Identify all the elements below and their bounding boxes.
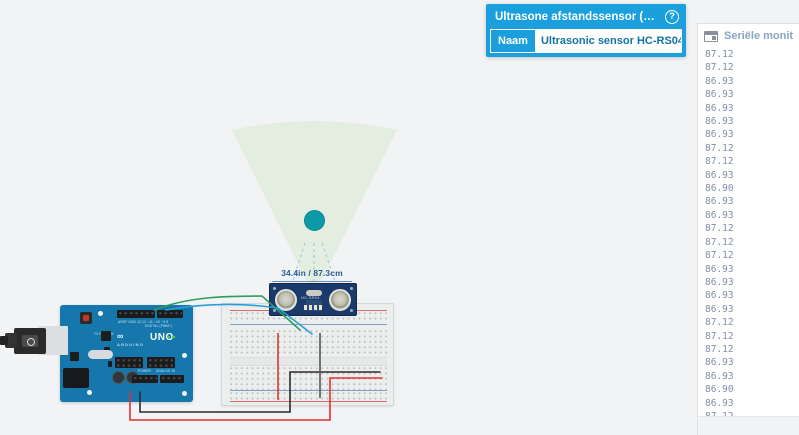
atmega-socket-right	[147, 357, 175, 368]
serial-monitor-line: 86.93	[705, 263, 799, 276]
serial-monitor-line: 87.12	[705, 249, 799, 262]
arduino-uno-label: UNO	[150, 332, 174, 343]
breadboard-holes-upper	[230, 330, 387, 357]
serial-monitor-line: 86.93	[705, 303, 799, 316]
atmega-socket-left	[115, 357, 143, 368]
usb-icon	[22, 335, 38, 347]
analog-header-label: ANALOG IN	[156, 369, 175, 373]
distance-readout-rule	[272, 281, 352, 282]
sensor-pin-echo[interactable]	[314, 305, 317, 310]
l-led	[172, 336, 175, 338]
microcontroller-ic	[88, 350, 113, 359]
serial-monitor-line: 87.12	[705, 343, 799, 356]
serial-monitor-line: 86.93	[705, 102, 799, 115]
tinkercad-simulator-screen: 34.4in / 87.3cm HC-SR04	[0, 0, 799, 435]
power-mosfet	[70, 352, 79, 361]
sensor-transmitter	[275, 289, 297, 311]
serial-monitor-line: 86.93	[705, 289, 799, 302]
breadboard-center-channel	[230, 357, 387, 366]
help-icon[interactable]: ?	[665, 10, 679, 24]
serial-monitor-line: 86.93	[705, 276, 799, 289]
small-ic	[108, 361, 112, 367]
ultrasonic-sensor-hcsr04[interactable]: HC-SR04	[269, 283, 357, 316]
serial-monitor-panel[interactable]: Seriële monitor 87.1287.1286.9386.9386.9…	[697, 23, 799, 435]
component-name-input[interactable]	[535, 30, 682, 52]
serial-monitor-line: 87.12	[705, 61, 799, 74]
serial-monitor-line: 86.93	[705, 75, 799, 88]
sensor-screw-tl	[273, 287, 276, 290]
electrolytic-cap-1	[112, 371, 125, 384]
serial-monitor-line: 87.12	[705, 222, 799, 235]
serial-monitor-line: 87.12	[705, 155, 799, 168]
analog-header[interactable]	[160, 375, 184, 383]
distance-target-handle[interactable]	[304, 210, 325, 231]
board-mount-hole-1	[98, 311, 103, 316]
serial-monitor-line: 86.93	[705, 195, 799, 208]
serial-monitor-line: 87.12	[705, 316, 799, 329]
serial-monitor-header: Seriële monitor	[698, 24, 799, 48]
digital-header-label: DIGITAL (PWM~)	[145, 324, 173, 328]
serial-monitor-line: 86.93	[705, 128, 799, 141]
serial-monitor-line: 87.12	[705, 236, 799, 249]
breadboard-rail-negative-bottom	[230, 390, 387, 391]
breadboard-rail-negative-top	[230, 324, 387, 325]
digital-header-low[interactable]	[157, 310, 183, 318]
power-header-label: POWER	[138, 369, 151, 373]
serial-monitor-footer	[698, 416, 799, 435]
serial-monitor-line: 86.93	[705, 209, 799, 222]
board-mount-hole-4	[182, 391, 187, 396]
sensor-screw-br	[350, 309, 353, 312]
component-inspector-panel[interactable]: Ultrasone afstandssensor (… ? Naam	[486, 4, 686, 57]
breadboard[interactable]	[221, 303, 394, 406]
sensor-screw-bl	[273, 309, 276, 312]
sensor-screw-tr	[350, 287, 353, 290]
breadboard-power-holes-bottom	[230, 392, 387, 400]
inspector-name-label: Naam	[491, 30, 535, 52]
serial-monitor-line: 86.90	[705, 383, 799, 396]
usb-controller-ic	[101, 331, 111, 341]
barrel-jack[interactable]	[63, 368, 89, 388]
sensor-pin-gnd[interactable]	[319, 305, 322, 310]
breadboard-rail-positive-bottom	[230, 401, 387, 402]
board-mount-hole-3	[182, 353, 187, 358]
usb-cable-tip	[0, 336, 8, 345]
power-led	[167, 336, 170, 338]
serial-monitor-line: 87.12	[705, 142, 799, 155]
serial-monitor-line: 86.93	[705, 169, 799, 182]
serial-monitor-line: 86.93	[705, 397, 799, 410]
board-mount-hole-2	[87, 390, 92, 395]
digital-header-high[interactable]	[117, 310, 155, 318]
circuit-workspace-canvas[interactable]: 34.4in / 87.3cm HC-SR04	[0, 0, 799, 435]
sensor-receiver	[329, 289, 351, 311]
serial-monitor-line: 86.93	[705, 115, 799, 128]
reset-button[interactable]	[80, 312, 92, 324]
arduino-wordmark: ARDUINO	[117, 342, 144, 347]
sensor-silkscreen: HC-SR04	[301, 295, 320, 300]
serial-monitor-line: 86.93	[705, 356, 799, 369]
inspector-title: Ultrasone afstandssensor (…	[495, 11, 665, 23]
serial-monitor-line: 86.90	[705, 182, 799, 195]
serial-monitor-line: 87.12	[705, 330, 799, 343]
serial-monitor-log[interactable]: 87.1287.1286.9386.9386.9386.9386.9387.12…	[698, 48, 799, 416]
serial-monitor-title: Seriële monitor	[724, 30, 793, 42]
power-header[interactable]	[132, 375, 158, 383]
inspector-name-row[interactable]: Naam	[490, 29, 682, 53]
distance-readout-label: 34.4in / 87.3cm	[274, 268, 350, 278]
sensor-pin-trig[interactable]	[309, 305, 312, 310]
serial-monitor-line: 86.93	[705, 88, 799, 101]
inspector-header: Ultrasone afstandssensor (… ?	[486, 4, 686, 29]
sensor-pin-vcc[interactable]	[304, 305, 307, 310]
serial-monitor-line: 86.93	[705, 370, 799, 383]
monitor-icon	[704, 31, 718, 42]
serial-monitor-line: 87.12	[705, 48, 799, 61]
arduino-uno-board[interactable]: AREF GND 13 12 ~11 ~10 ~9 8 DIGITAL (PWM…	[60, 305, 193, 402]
arduino-infinity-logo: ∞	[117, 331, 124, 341]
